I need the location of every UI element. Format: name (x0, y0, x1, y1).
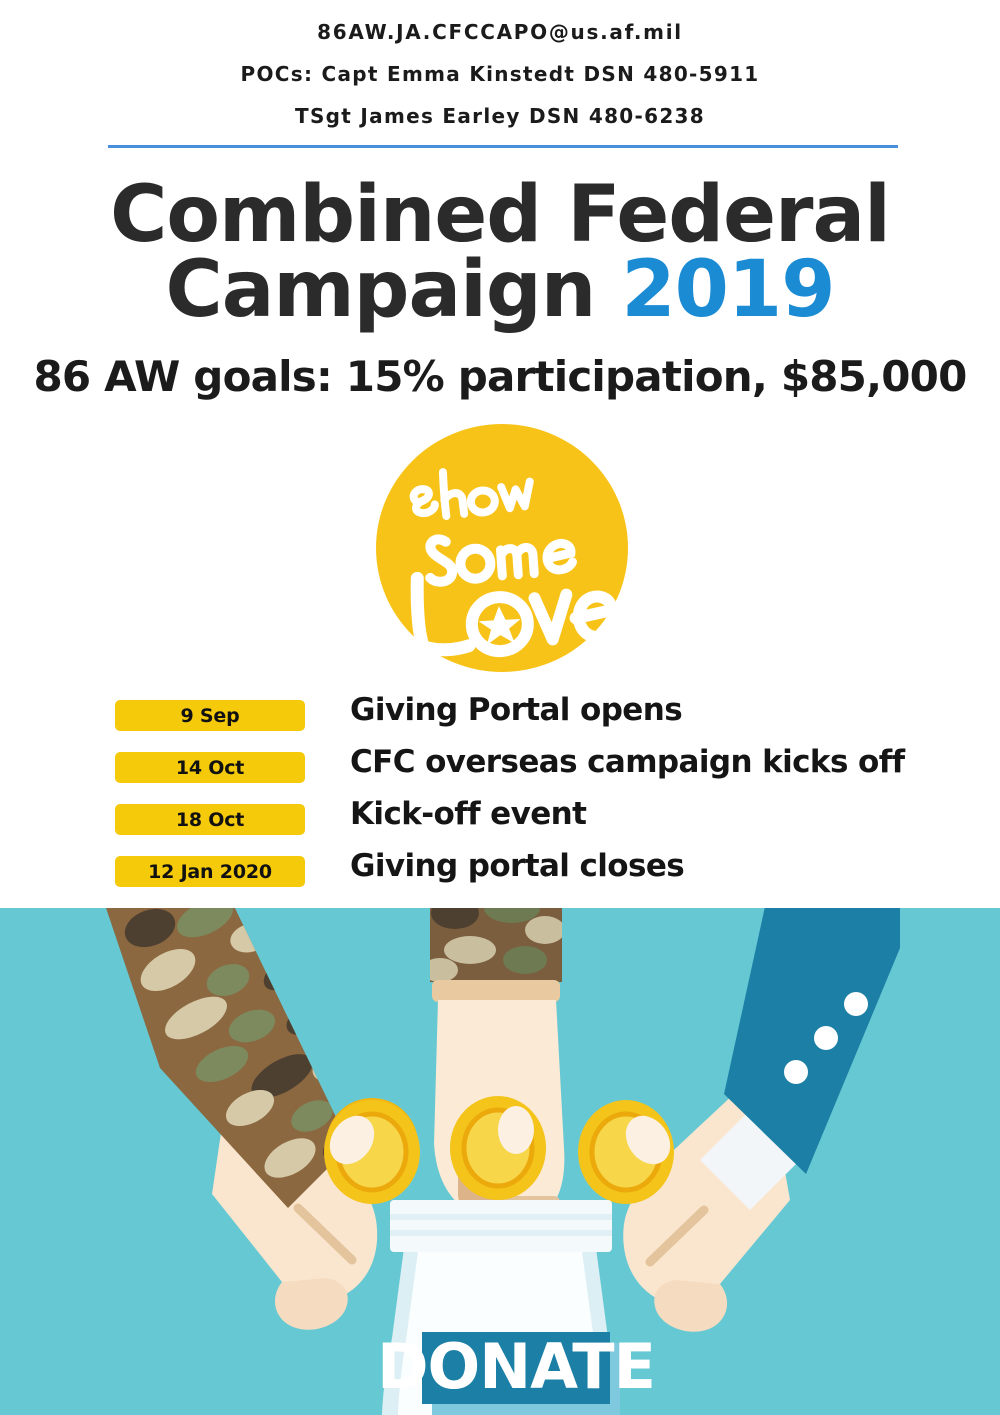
timeline-date-text: 9 Sep (180, 705, 239, 727)
campaign-timeline: 9 Sep Giving Portal opens 14 Oct CFC ove… (115, 698, 945, 906)
timeline-date-badge: 12 Jan 2020 (115, 856, 305, 887)
suit-button-icon (784, 1060, 808, 1084)
title-line-1: Combined Federal (0, 178, 1000, 253)
left-hand-fingers (275, 1278, 348, 1330)
right-arm-suit (623, 908, 900, 1332)
timeline-date-badge: 9 Sep (115, 700, 305, 731)
contact-poc-secondary: TSgt James Earley DSN 480-6238 (0, 106, 1000, 126)
timeline-date-badge: 14 Oct (115, 752, 305, 783)
contact-header: 86AW.JA.CFCCAPO@us.af.mil POCs: Capt Emm… (0, 0, 1000, 148)
timeline-date-text: 12 Jan 2020 (148, 861, 272, 883)
jar-lid (390, 1200, 612, 1252)
center-fingertip (498, 1106, 534, 1154)
timeline-row: 12 Jan 2020 Giving portal closes (115, 854, 945, 906)
donation-illustration: DONATE (0, 908, 1000, 1415)
timeline-row: 14 Oct CFC overseas campaign kicks off (115, 750, 945, 802)
title-campaign-word: Campaign (166, 245, 622, 335)
coins-group (321, 1096, 680, 1204)
timeline-event-label: Kick-off event (350, 796, 586, 832)
jar-lid-ridge (390, 1214, 612, 1220)
timeline-row: 18 Oct Kick-off event (115, 802, 945, 854)
timeline-row: 9 Sep Giving Portal opens (115, 698, 945, 750)
timeline-date-text: 14 Oct (176, 757, 244, 779)
illustration-svg: DONATE (0, 908, 1000, 1415)
show-some-love-logo (375, 423, 630, 673)
goals-subtitle: 86 AW goals: 15% participation, $85,000 (0, 352, 1000, 401)
logo-svg (375, 423, 630, 673)
title-line-2: Campaign 2019 (0, 253, 1000, 328)
right-hand-fingers (654, 1280, 727, 1332)
timeline-event-label: CFC overseas campaign kicks off (350, 744, 904, 780)
jar-label-text: DONATE (377, 1330, 655, 1403)
contact-email: 86AW.JA.CFCCAPO@us.af.mil (0, 22, 1000, 42)
timeline-date-text: 18 Oct (176, 809, 244, 831)
poster-root: 86AW.JA.CFCCAPO@us.af.mil POCs: Capt Emm… (0, 0, 1000, 1415)
title-block: Combined Federal Campaign 2019 (0, 178, 1000, 328)
timeline-event-label: Giving portal closes (350, 848, 684, 884)
timeline-date-badge: 18 Oct (115, 804, 305, 835)
title-year: 2019 (621, 245, 834, 335)
coin-center (450, 1096, 546, 1200)
timeline-event-label: Giving Portal opens (350, 692, 682, 728)
suit-button-icon (814, 1026, 838, 1050)
suit-button-icon (844, 992, 868, 1016)
header-divider (108, 145, 898, 148)
center-sleeve-cuff (432, 980, 560, 1002)
jar-lid-ridge (390, 1230, 612, 1236)
donation-jar: DONATE (377, 1200, 655, 1415)
contact-poc-primary: POCs: Capt Emma Kinstedt DSN 480-5911 (0, 64, 1000, 84)
